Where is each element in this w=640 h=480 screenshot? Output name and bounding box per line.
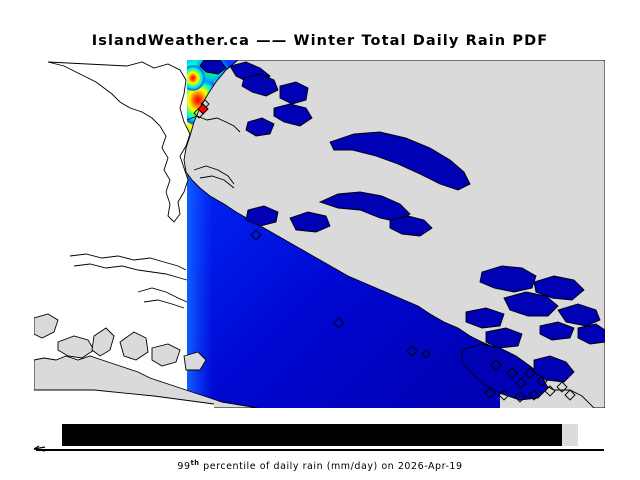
caption-prefix: 99 xyxy=(177,461,190,472)
caption-ordinal-suffix: th xyxy=(191,459,200,467)
figure-canvas: IslandWeather.ca —— Winter Total Daily R… xyxy=(0,0,640,480)
page-title: IslandWeather.ca —— Winter Total Daily R… xyxy=(0,33,640,49)
caption-suffix: percentile of daily rain (mm/day) on 202… xyxy=(200,461,463,472)
rain-colorbar xyxy=(62,424,578,446)
colorbar-baseline xyxy=(36,449,604,451)
colorbar-gradient xyxy=(62,424,562,446)
colorbar-caption: 99th percentile of daily rain (mm/day) o… xyxy=(0,459,640,472)
map-panel[interactable] xyxy=(34,60,605,408)
colorbar-arrow-icon xyxy=(32,444,46,456)
colorbar-end-cap xyxy=(562,424,578,446)
map-geography-overlay xyxy=(34,60,605,408)
